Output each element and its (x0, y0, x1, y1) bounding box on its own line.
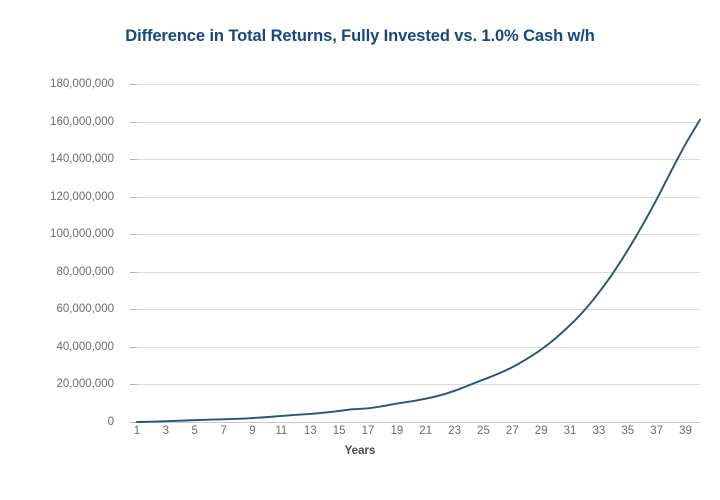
gridline (137, 384, 700, 385)
y-tick-mark (130, 422, 137, 423)
x-tick-label: 17 (362, 425, 375, 437)
chart-title: Difference in Total Returns, Fully Inves… (0, 27, 720, 46)
x-tick-label: 3 (163, 425, 169, 437)
y-tick-mark (130, 384, 137, 385)
x-tick-label: 29 (535, 425, 548, 437)
plot-area (137, 84, 700, 422)
x-axis-line (137, 422, 700, 423)
x-tick-label: 7 (220, 425, 226, 437)
y-tick-label: 120,000,000 (10, 191, 114, 203)
x-tick-label: 33 (593, 425, 606, 437)
gridline (137, 347, 700, 348)
x-tick-label: 5 (192, 425, 198, 437)
x-tick-label: 35 (621, 425, 634, 437)
y-axis-title: Dollars (0, 188, 1, 227)
y-tick-label: 20,000,000 (10, 378, 114, 390)
x-tick-label: 27 (506, 425, 519, 437)
x-tick-label: 21 (419, 425, 432, 437)
gridline (137, 309, 700, 310)
gridline (137, 159, 700, 160)
y-tick-mark (130, 84, 137, 85)
y-tick-label: 160,000,000 (10, 116, 114, 128)
y-tick-label: 80,000,000 (10, 266, 114, 278)
x-axis-title: Years (0, 445, 720, 457)
y-tick-mark (130, 197, 137, 198)
x-tick-label: 1 (134, 425, 140, 437)
gridline (137, 197, 700, 198)
gridline (137, 272, 700, 273)
y-tick-mark (130, 234, 137, 235)
chart-figure: Difference in Total Returns, Fully Inves… (0, 0, 720, 500)
gridline (137, 84, 700, 85)
y-tick-label: 0 (10, 416, 114, 428)
y-tick-mark (130, 347, 137, 348)
x-tick-label: 37 (650, 425, 663, 437)
y-tick-mark (130, 309, 137, 310)
x-tick-label: 9 (249, 425, 255, 437)
y-tick-mark (130, 272, 137, 273)
y-tick-mark (130, 159, 137, 160)
y-tick-label: 100,000,000 (10, 228, 114, 240)
gridline (137, 234, 700, 235)
y-tick-label: 40,000,000 (10, 341, 114, 353)
y-tick-label: 180,000,000 (10, 78, 114, 90)
x-tick-label: 19 (390, 425, 403, 437)
y-tick-label: 140,000,000 (10, 153, 114, 165)
x-tick-label: 25 (477, 425, 490, 437)
x-tick-label: 13 (304, 425, 317, 437)
x-tick-label: 39 (679, 425, 692, 437)
x-tick-label: 23 (448, 425, 461, 437)
x-tick-label: 31 (564, 425, 577, 437)
y-tick-mark (130, 122, 137, 123)
gridline (137, 122, 700, 123)
x-tick-label: 11 (275, 425, 287, 437)
x-tick-label: 15 (333, 425, 346, 437)
y-tick-label: 60,000,000 (10, 303, 114, 315)
